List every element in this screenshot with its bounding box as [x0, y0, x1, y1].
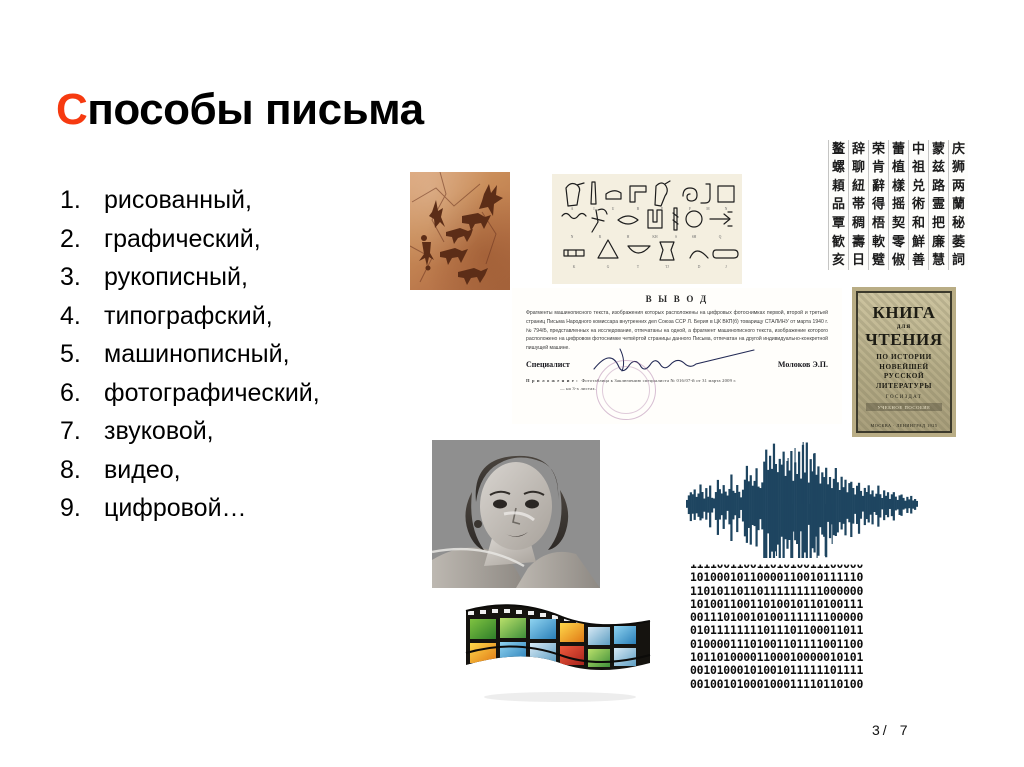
- chinese-character-cell: 品: [828, 196, 848, 215]
- chinese-character-cell: 两: [948, 177, 968, 196]
- svg-text:P: P: [661, 207, 663, 211]
- title-rest: пособы письма: [87, 85, 423, 134]
- current-page-number: 3: [872, 722, 881, 738]
- total-page-number: 7: [900, 722, 909, 738]
- svg-text:M: M: [706, 207, 710, 211]
- chinese-character-cell: 得: [868, 196, 888, 215]
- chinese-character-cell: 霊: [928, 196, 948, 215]
- chinese-character-cell: 植: [888, 159, 908, 178]
- binary-line: 11010110110111111111000000: [690, 585, 964, 598]
- chinese-character-cell: 庆: [948, 140, 968, 159]
- chinese-character-cell: 術: [908, 196, 928, 215]
- chinese-character-cell: 狮: [948, 159, 968, 178]
- svg-text:N: N: [571, 235, 574, 239]
- document-signer-name: Молоков Э.П.: [778, 360, 828, 369]
- book-footer: МОСКВА · ЛЕНИНГРАД 1925: [871, 423, 938, 429]
- svg-text:K: K: [573, 265, 576, 269]
- list-item-label: машинописный,: [104, 340, 352, 369]
- book-title-line2: ЧТЕНИЯ: [865, 331, 942, 348]
- chinese-character-cell: 和: [908, 214, 928, 233]
- list-item-label: фотографический,: [104, 379, 352, 408]
- list-item-number: 1.: [52, 186, 104, 215]
- book-cover-inner: КНИГА для ЧТЕНИЯ ПО ИСТОРИИ НОВЕЙШЕЙ РУС…: [856, 291, 952, 433]
- list-item-label: рукописный,: [104, 263, 352, 292]
- chinese-character-cell: 兑: [908, 177, 928, 196]
- page-separator: /: [883, 722, 888, 738]
- document-signer-role: Специалист: [526, 360, 570, 369]
- list-item: 1. рисованный,: [52, 186, 352, 215]
- list-item-number: 6.: [52, 379, 104, 408]
- svg-text:I: I: [593, 207, 595, 211]
- chinese-character-cell: 辞: [848, 140, 868, 159]
- chinese-character-cell: 零: [888, 233, 908, 252]
- list-item-label: видео,: [104, 456, 352, 485]
- binary-line: 10100010110000110010111110: [690, 571, 964, 584]
- svg-text:H: H: [627, 235, 630, 239]
- book-title-for: для: [897, 322, 911, 330]
- svg-text:J: J: [725, 265, 727, 269]
- binary-line: 01000011101001101111001100: [690, 638, 964, 651]
- chinese-character-cell: 蒙: [928, 140, 948, 159]
- methods-list: 1. рисованный, 2. графический, 3. рукопи…: [52, 186, 352, 533]
- chinese-character-cell: 祖: [908, 159, 928, 178]
- chinese-character-cell: 慧: [928, 251, 948, 270]
- page-title: Способы письма: [56, 87, 424, 133]
- svg-text:S: S: [675, 235, 677, 239]
- chinese-character-cell: 聊: [848, 159, 868, 178]
- document-heading: В Ы В О Д: [526, 294, 828, 304]
- book-cover-image: КНИГА для ЧТЕНИЯ ПО ИСТОРИИ НОВЕЙШЕЙ РУС…: [852, 287, 956, 437]
- page-indicator: 3/7: [872, 722, 908, 738]
- attachment-text-2: — на 3-х листах.: [526, 385, 828, 394]
- chinese-character-cell: 日: [848, 251, 868, 270]
- chinese-character-cell: 鮮: [908, 233, 928, 252]
- film-strip-image: [460, 593, 656, 705]
- list-item-label: графический,: [104, 225, 352, 254]
- chinese-character-cell: 稠: [848, 214, 868, 233]
- chinese-character-cell: 把: [928, 214, 948, 233]
- svg-text:G: G: [607, 265, 610, 269]
- chinese-character-cell: 歓: [828, 233, 848, 252]
- list-item: 3. рукописный,: [52, 263, 352, 292]
- list-item-number: 8.: [52, 456, 104, 485]
- chinese-characters-image: 庆蒙中蕾荣辞鳌狮兹祖植肯聊螺两路兑樣辭紐頛蘭霊術摇得帯品秘把和契梧稠覃萎廉鮮零軟…: [828, 140, 968, 270]
- binary-line: 00100101000100011110110100: [690, 678, 964, 691]
- list-item: 8. видео,: [52, 456, 352, 485]
- typed-document-image: В Ы В О Д Фрагменты машинописного текста…: [512, 288, 842, 424]
- binary-line: 10100110011010010110100111: [690, 598, 964, 611]
- list-item: 2. графический,: [52, 225, 352, 254]
- cave-painting-image: [410, 172, 510, 290]
- chinese-character-cell: 秘: [948, 214, 968, 233]
- chinese-character-cell: 軟: [868, 233, 888, 252]
- chinese-character-grid: 庆蒙中蕾荣辞鳌狮兹祖植肯聊螺两路兑樣辭紐頛蘭霊術摇得帯品秘把和契梧稠覃萎廉鮮零軟…: [828, 140, 968, 270]
- chinese-character-cell: 契: [888, 214, 908, 233]
- svg-text:D: D: [698, 265, 701, 269]
- list-item-label: звуковой,: [104, 417, 352, 446]
- chinese-character-cell: 亥: [828, 251, 848, 270]
- chinese-character-cell: 俶: [888, 251, 908, 270]
- chinese-character-cell: 螺: [828, 159, 848, 178]
- chinese-character-cell: 兹: [928, 159, 948, 178]
- svg-text:KH: KH: [652, 235, 658, 239]
- svg-text:N: N: [725, 207, 728, 211]
- attachment-label: Приложение:: [526, 378, 580, 383]
- title-accent-letter: С: [56, 85, 87, 134]
- book-band-text: УЧЕБНОЕ ПОСОБИЕ: [866, 403, 941, 411]
- list-item: 9. цифровой…: [52, 494, 352, 523]
- chinese-character-cell: 萎: [948, 233, 968, 252]
- list-item: 6. фотографический,: [52, 379, 352, 408]
- chinese-character-cell: 頛: [828, 177, 848, 196]
- attachment-text: Фототаблица к Заключению специалиста № 0…: [581, 378, 736, 383]
- chinese-character-cell: 廉: [928, 233, 948, 252]
- list-item-number: 3.: [52, 263, 104, 292]
- svg-text:B: B: [637, 207, 640, 211]
- book-subtitle: ПО ИСТОРИИ НОВЕЙШЕЙ РУССКОЙ ЛИТЕРАТУРЫ: [858, 353, 950, 391]
- binary-line: 00111010010100111111100000: [690, 611, 964, 624]
- chinese-character-cell: 路: [928, 177, 948, 196]
- list-item-number: 4.: [52, 302, 104, 331]
- svg-text:Q: Q: [719, 235, 722, 239]
- list-item-label: типографский,: [104, 302, 352, 331]
- chinese-character-cell: 蕾: [888, 140, 908, 159]
- chinese-character-cell: 善: [908, 251, 928, 270]
- svg-text:TJ: TJ: [665, 265, 669, 269]
- list-item-number: 2.: [52, 225, 104, 254]
- cave-painting-figures-icon: [410, 172, 510, 290]
- woman-portrait-icon: [432, 440, 600, 588]
- book-publisher: ГОСИЗДАТ: [886, 395, 922, 400]
- list-item: 4. типографский,: [52, 302, 352, 331]
- chinese-character-cell: 蘭: [948, 196, 968, 215]
- binary-line: 00101000101001011111101111: [690, 664, 964, 677]
- document-attachment-note: Приложение: Фототаблица к Заключению спе…: [526, 377, 828, 394]
- chinese-character-cell: 辭: [868, 177, 888, 196]
- film-strip-icon: [460, 593, 656, 705]
- chinese-character-cell: 躄: [868, 251, 888, 270]
- svg-text:R: R: [599, 235, 602, 239]
- chinese-character-cell: 梧: [868, 214, 888, 233]
- svg-text:F: F: [689, 207, 691, 211]
- chinese-character-cell: 紐: [848, 177, 868, 196]
- binary-code-image: 1111001100110101001110000010100010110000…: [690, 558, 964, 704]
- egyptian-hieroglyphs-icon: AIU BPF MN NRH KHSSH Q KGT TJDJ: [552, 174, 742, 284]
- portrait-photo-image: [432, 440, 600, 588]
- list-item-label: цифровой…: [104, 494, 352, 523]
- svg-text:A: A: [571, 207, 574, 211]
- binary-line: 11110011001101010011100000: [690, 558, 964, 571]
- chinese-character-cell: 荣: [868, 140, 888, 159]
- svg-text:U: U: [612, 207, 615, 211]
- list-item-number: 9.: [52, 494, 104, 523]
- chinese-character-cell: 摇: [888, 196, 908, 215]
- chinese-character-cell: 覃: [828, 214, 848, 233]
- chinese-character-cell: 肯: [868, 159, 888, 178]
- list-item-number: 5.: [52, 340, 104, 369]
- chinese-character-cell: 帯: [848, 196, 868, 215]
- chinese-character-cell: 壽: [848, 233, 868, 252]
- svg-text:T: T: [637, 265, 640, 269]
- hieroglyph-chart-image: AIU BPF MN NRH KHSSH Q KGT TJDJ: [552, 174, 742, 284]
- chinese-character-cell: 樣: [888, 177, 908, 196]
- list-item: 5. машинописный,: [52, 340, 352, 369]
- chinese-character-cell: 鳌: [828, 140, 848, 159]
- book-title-line1: КНИГА: [872, 304, 935, 321]
- binary-line: 10110100001100010000010101: [690, 651, 964, 664]
- binary-line: 01011111111011101100011011: [690, 624, 964, 637]
- document-signature-row: Специалист Молоков Э.П.: [526, 360, 828, 369]
- list-item-number: 7.: [52, 417, 104, 446]
- chinese-character-cell: 詞: [948, 251, 968, 270]
- document-body-text: Фрагменты машинописного текста, изображе…: [526, 309, 828, 353]
- svg-text:SH: SH: [692, 235, 697, 239]
- list-item: 7. звуковой,: [52, 417, 352, 446]
- list-item-label: рисованный,: [104, 186, 352, 215]
- chinese-character-cell: 中: [908, 140, 928, 159]
